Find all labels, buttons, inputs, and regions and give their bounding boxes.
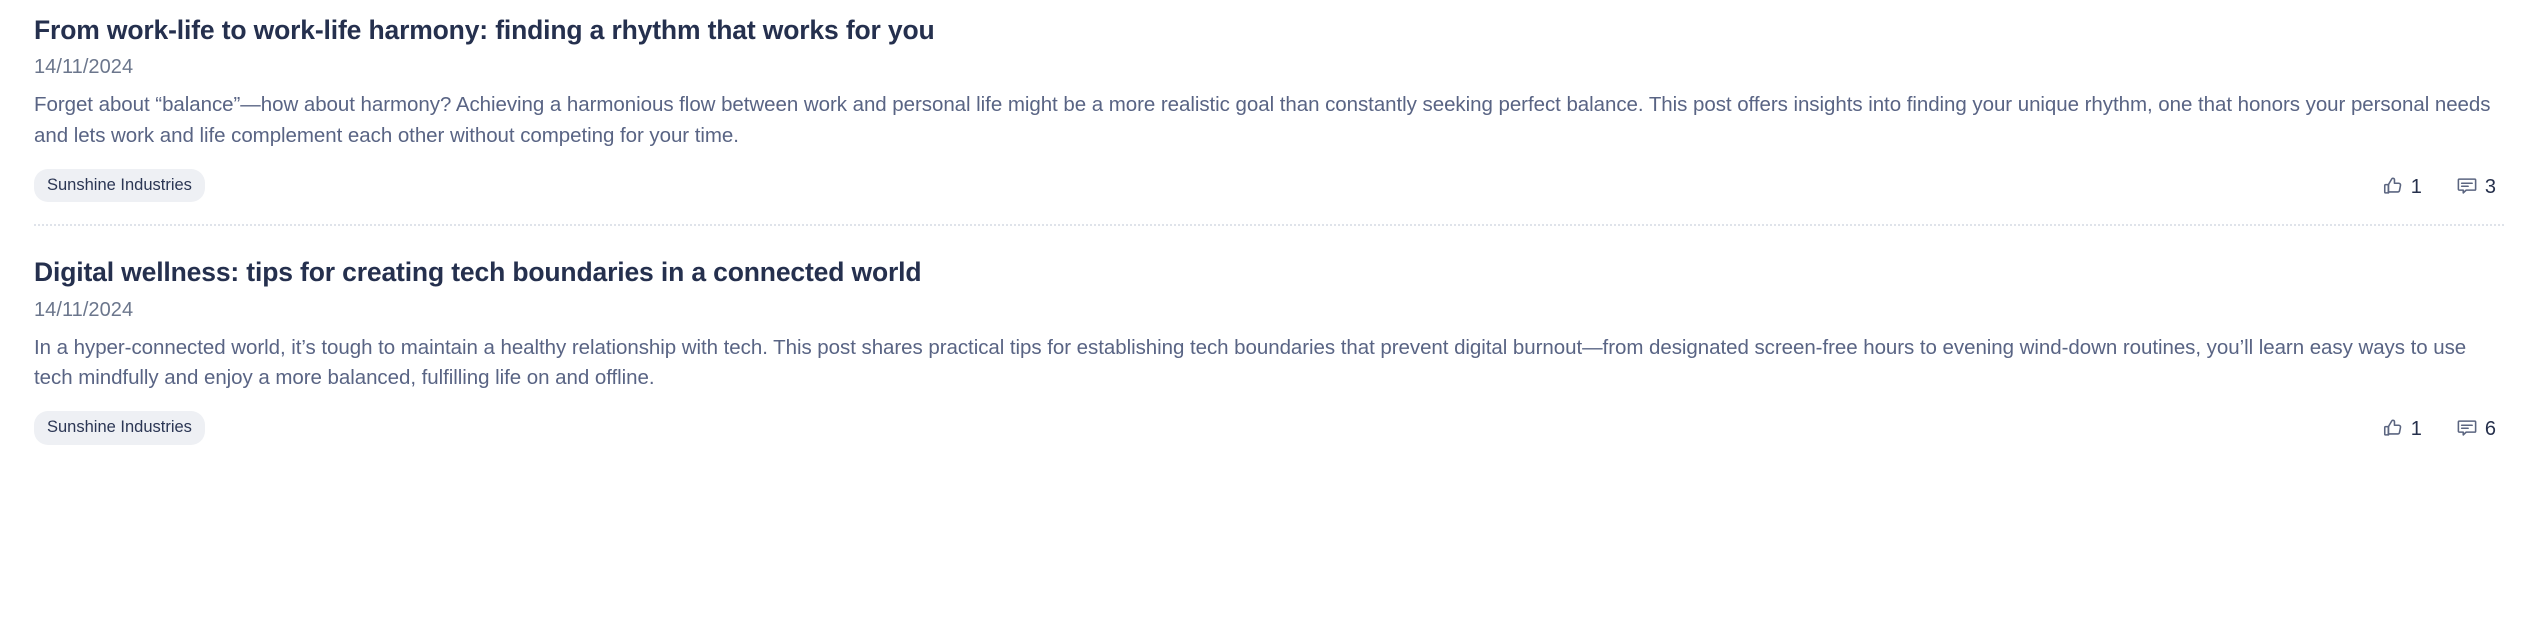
post-date: 14/11/2024 [34,298,2504,322]
post-stats: 1 3 [2382,175,2504,197]
thumbs-up-icon [2382,417,2404,439]
post-footer: Sunshine Industries 1 [34,169,2504,203]
tag-list: Sunshine Industries [34,169,205,203]
post-feed: From work-life to work-life harmony: fin… [0,0,2538,467]
post-body: In a hyper-connected world, it’s tough t… [34,333,2504,394]
post-item: Digital wellness: tips for creating tech… [34,224,2504,466]
like-count: 1 [2411,419,2422,439]
comment-stat[interactable]: 6 [2456,417,2496,439]
post-date: 14/11/2024 [34,55,2504,79]
comment-bubble-icon [2456,175,2478,197]
post-body: Forget about “balance”—how about harmony… [34,90,2504,151]
tag-list: Sunshine Industries [34,411,205,445]
post-item: From work-life to work-life harmony: fin… [34,0,2504,224]
comment-stat[interactable]: 3 [2456,175,2496,197]
post-title[interactable]: Digital wellness: tips for creating tech… [34,256,2504,288]
comment-count: 6 [2485,419,2496,439]
like-stat[interactable]: 1 [2382,417,2422,439]
thumbs-up-icon [2382,175,2404,197]
tag-badge[interactable]: Sunshine Industries [34,169,205,203]
like-stat[interactable]: 1 [2382,175,2422,197]
comment-bubble-icon [2456,417,2478,439]
like-count: 1 [2411,177,2422,197]
tag-badge[interactable]: Sunshine Industries [34,411,205,445]
comment-count: 3 [2485,177,2496,197]
post-title[interactable]: From work-life to work-life harmony: fin… [34,14,2504,46]
post-stats: 1 6 [2382,417,2504,439]
post-footer: Sunshine Industries 1 [34,411,2504,445]
